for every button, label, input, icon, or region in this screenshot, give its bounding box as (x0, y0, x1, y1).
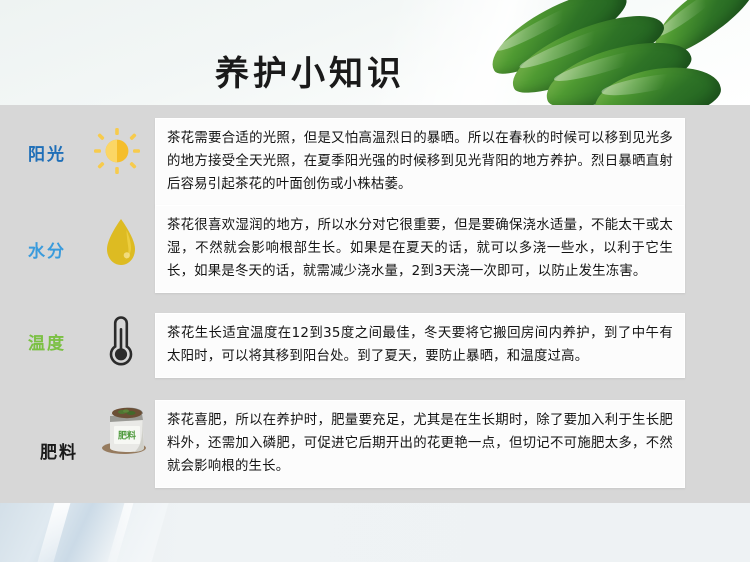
thermometer-icon (108, 316, 134, 370)
water-droplet-icon (104, 218, 138, 270)
fertilizer-bag-icon: 肥料 (98, 400, 154, 460)
bag-label-text: 肥料 (118, 430, 136, 442)
section-text-water: 茶花很喜欢湿润的地方，所以水分对它很重要，但是要确保浇水适量，不能太干或太湿，不… (155, 205, 685, 293)
slide-page: 养护小知识 阳光 (0, 0, 750, 562)
footer-glass-decoration (0, 503, 168, 562)
slide-header: 养护小知识 (0, 0, 750, 105)
page-title: 养护小知识 (0, 46, 750, 95)
section-label-temperature: 温度 (28, 329, 66, 354)
section-water: 水分 茶花很喜欢湿润的地方，所以水分对它很重要，但是要确保浇水适量，不能太干或太… (0, 205, 750, 293)
section-fertilizer: 肥料 肥料 茶花喜肥，所以在养护时，肥量要充足，尤其是在生长期时，除了要加入利 (0, 400, 750, 488)
section-text-fertilizer: 茶花喜肥，所以在养护时，肥量要充足，尤其是在生长期时，除了要加入利于生长肥料外，… (155, 400, 685, 488)
slide-footer (0, 503, 750, 562)
section-temperature: 温度 茶花生长适宜温度在12到35度之间最佳，冬天要将它搬回房间内养护，到了中午… (0, 313, 750, 378)
sun-icon (94, 128, 140, 178)
section-text-sunlight: 茶花需要合适的光照，但是又怕高温烈日的暴晒。所以在春秋的时候可以移到见光多的地方… (155, 118, 685, 206)
section-label-water: 水分 (28, 237, 66, 262)
section-label-sunlight: 阳光 (28, 140, 66, 165)
section-sunlight: 阳光 茶花需要合适的光 (0, 118, 750, 206)
section-label-fertilizer: 肥料 (40, 438, 78, 463)
section-text-temperature: 茶花生长适宜温度在12到35度之间最佳，冬天要将它搬回房间内养护，到了中午有太阳… (155, 313, 685, 378)
